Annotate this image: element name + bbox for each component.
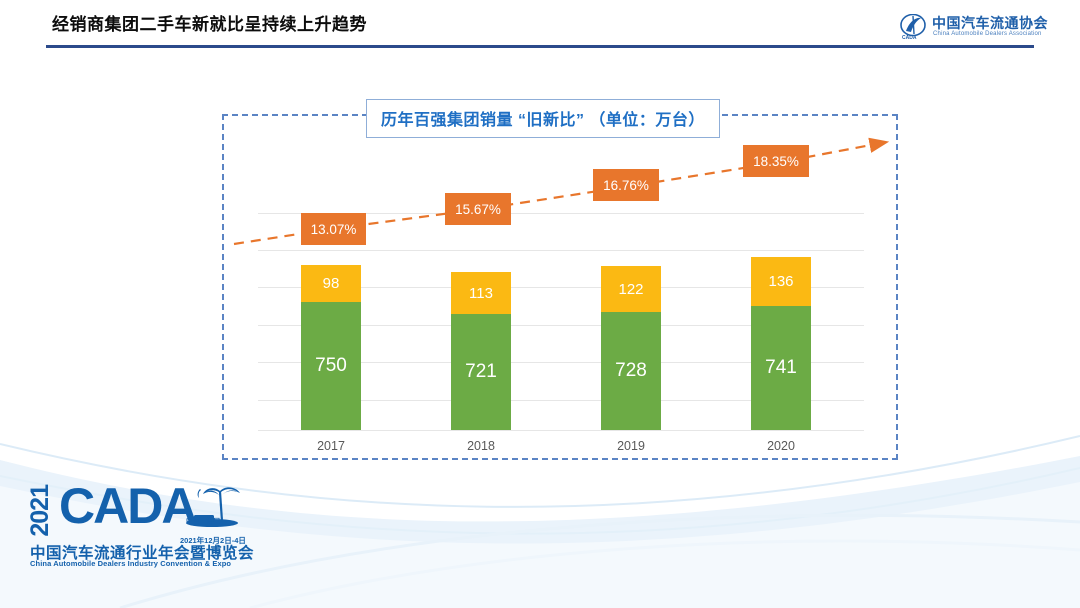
ratio-label-text-2020: 18.35% — [753, 154, 799, 169]
svg-text:CADA: CADA — [902, 35, 917, 40]
event-place: 中国 · 海口 — [186, 516, 220, 526]
ratio-label-2019[interactable]: 16.76% — [593, 169, 659, 201]
association-logo: CADA 中国汽车流通协会 China Automobile Dealers A… — [900, 12, 1040, 44]
ratio-label-2020[interactable]: 18.35% — [743, 145, 809, 177]
association-name-cn: 中国汽车流通协会 — [932, 13, 1048, 33]
page-title: 经销商集团二手车新就比呈持续上升趋势 — [52, 10, 367, 35]
event-brand: CADA — [59, 481, 195, 531]
event-year: 2021 — [30, 485, 51, 537]
page-header: 经销商集团二手车新就比呈持续上升趋势 CADA 中国汽车流通协会 China A… — [0, 0, 1080, 56]
ratio-label-text-2018: 15.67% — [455, 202, 501, 217]
x-axis-label-2018: 2018 — [436, 439, 526, 453]
chart-plot-area: 98 750 113 721 122 728 136 741 — [222, 114, 898, 460]
x-axis-label-2017: 2017 — [286, 439, 376, 453]
ratio-label-2017[interactable]: 13.07% — [301, 213, 366, 245]
header-divider — [46, 45, 1034, 48]
x-axis-label-2020: 2020 — [736, 439, 826, 453]
event-logo: 2021 CADA 中国 · 海口 2021年12月2日-4日 中国汽车流通行业… — [28, 483, 243, 565]
ratio-label-text-2017: 13.07% — [311, 222, 357, 237]
association-emblem-icon: CADA — [900, 14, 928, 40]
chart-title: 历年百强集团销量 “旧新比” （单位：万台） — [366, 99, 720, 138]
ratio-label-2018[interactable]: 15.67% — [445, 193, 511, 225]
event-name-en: China Automobile Dealers Industry Conven… — [30, 559, 231, 568]
ratio-label-text-2019: 16.76% — [603, 178, 649, 193]
x-axis-label-2019: 2019 — [586, 439, 676, 453]
association-name-en: China Automobile Dealers Association — [933, 31, 1042, 37]
